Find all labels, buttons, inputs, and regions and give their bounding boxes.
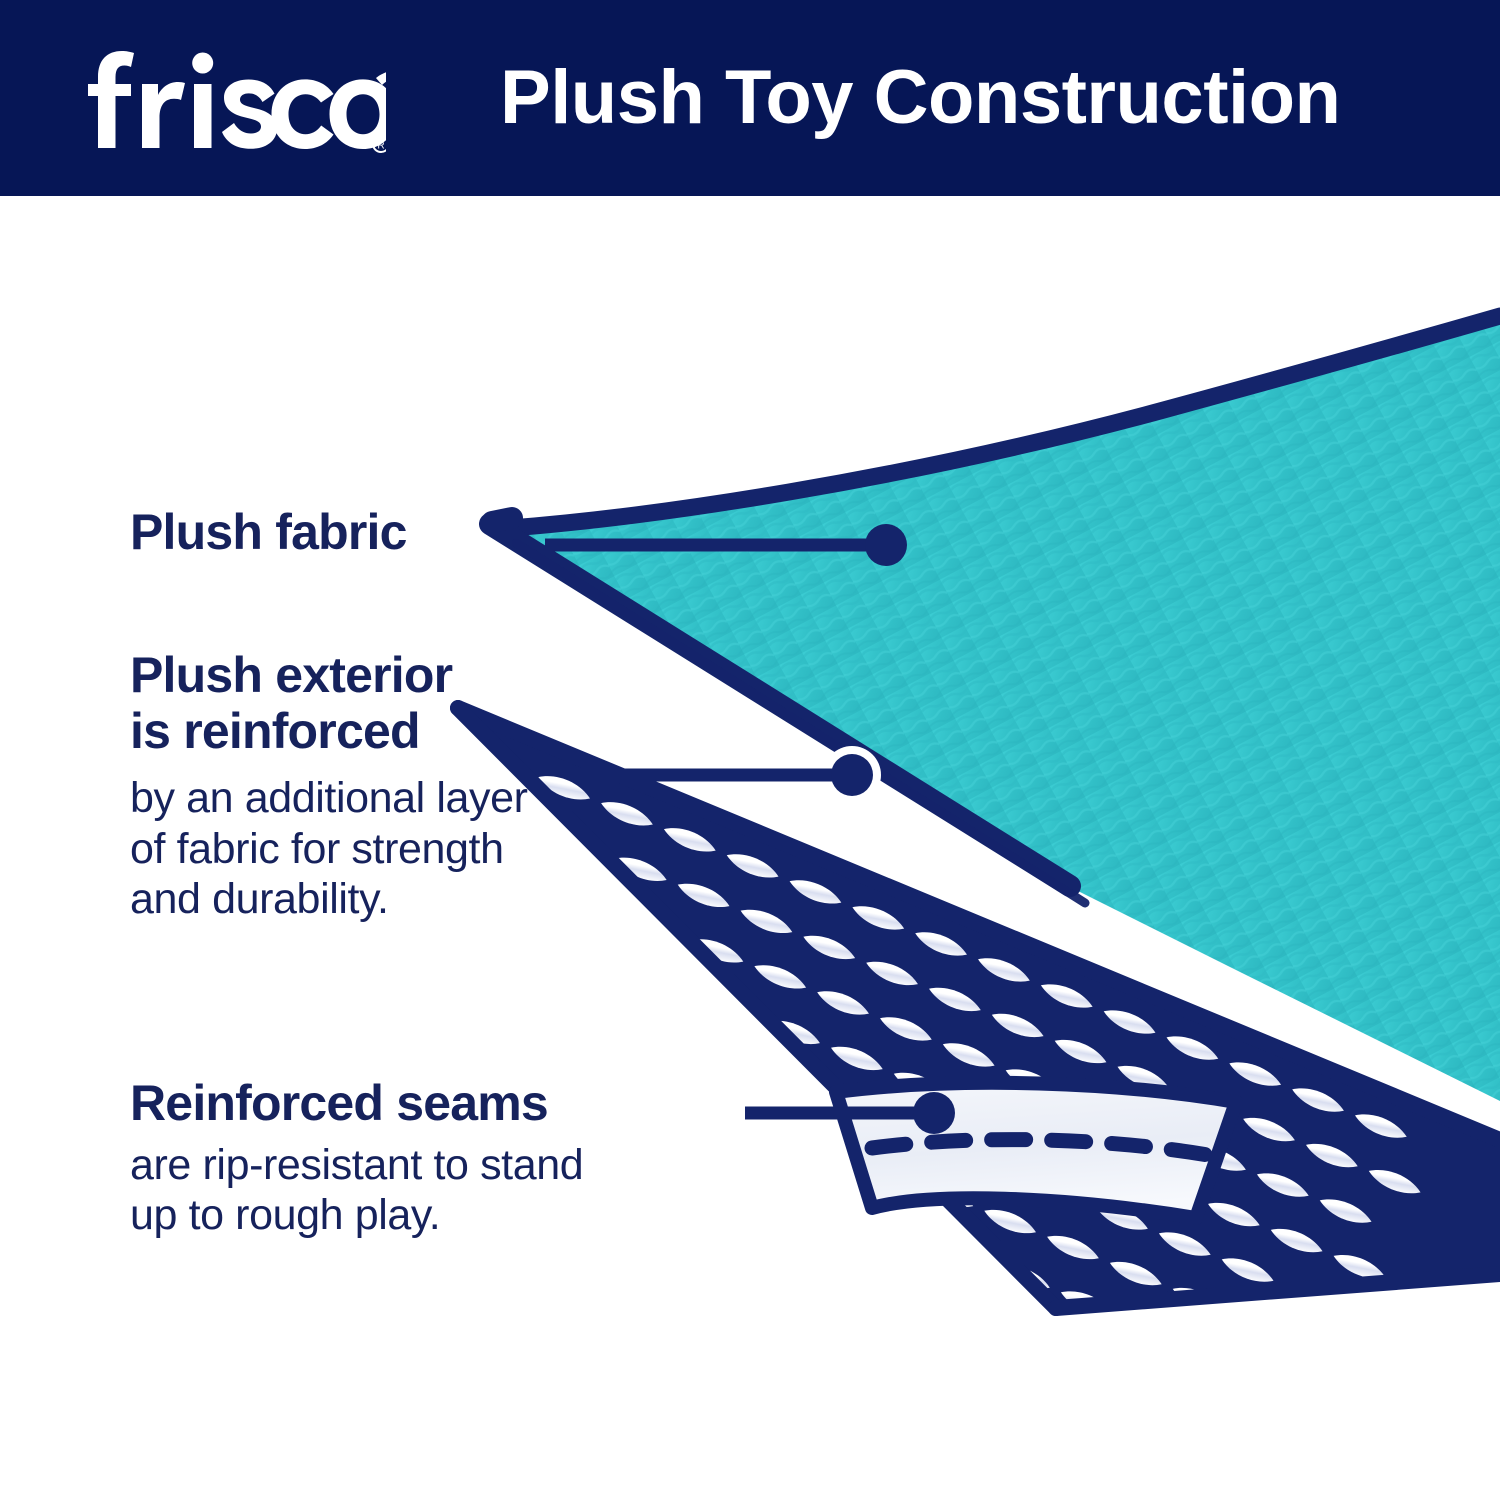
callout-heading: Plush exterior is reinforced — [130, 648, 528, 759]
callout-body: by an additional layer of fabric for str… — [130, 773, 528, 925]
svg-text:R: R — [377, 141, 384, 152]
page-title: Plush Toy Construction — [500, 0, 1340, 196]
seam-flap-layer — [836, 1083, 1236, 1218]
frisco-logo: R — [86, 44, 386, 154]
callout-plush-fabric: Plush fabric — [130, 505, 407, 561]
infographic-page: R Plush Toy Construction — [0, 0, 1500, 1500]
callout-body: are rip-resistant to stand up to rough p… — [130, 1140, 583, 1241]
callout-heading: Plush fabric — [130, 505, 407, 561]
callout-heading: Reinforced seams — [130, 1076, 583, 1132]
callout-reinforced-seams: Reinforced seams are rip-resistant to st… — [130, 1076, 583, 1241]
callout-plush-exterior: Plush exterior is reinforced by an addit… — [130, 648, 528, 925]
header-bar: R Plush Toy Construction — [0, 0, 1500, 196]
